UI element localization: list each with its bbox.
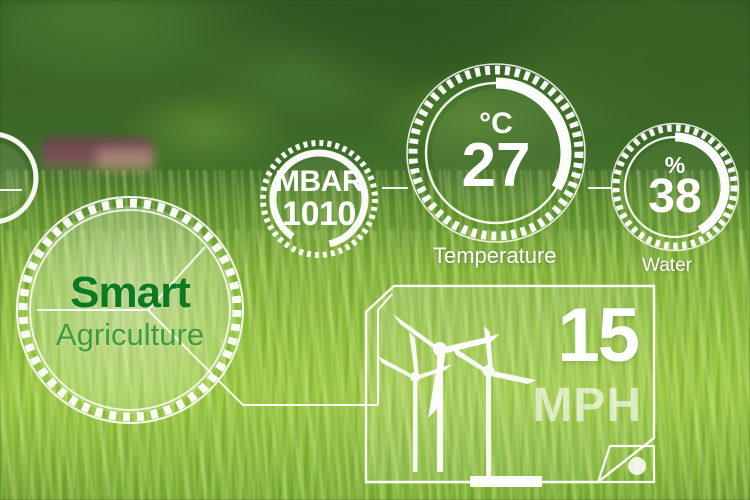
wind-panel-corner-dot xyxy=(628,457,646,475)
pressure-gauge-fill xyxy=(277,157,361,241)
smart-badge-fill xyxy=(26,206,234,414)
temperature-caption: Temperature xyxy=(433,243,557,269)
water-gauge[interactable]: % 38 xyxy=(610,122,740,252)
smart-agriculture-dashboard: Smart Agriculture MBAR 1010 °C 27 Tem xyxy=(0,0,750,500)
water-caption: Water xyxy=(642,255,692,277)
wind-turbine-icon xyxy=(393,314,500,472)
wind-speed-unit: MPH xyxy=(532,384,642,427)
wind-panel-status-bar xyxy=(470,476,542,487)
smart-agriculture-badge[interactable]: Smart Agriculture xyxy=(10,190,250,430)
temperature-gauge-fill xyxy=(432,89,560,217)
wind-speed-panel[interactable]: 15 MPH xyxy=(360,280,660,500)
pressure-gauge[interactable]: MBAR 1010 xyxy=(258,138,380,260)
wind-speed-value: 15 xyxy=(557,302,638,370)
wind-turbine-icon xyxy=(452,326,536,478)
temperature-gauge[interactable]: °C 27 xyxy=(405,62,587,244)
water-gauge-fill xyxy=(630,142,720,232)
